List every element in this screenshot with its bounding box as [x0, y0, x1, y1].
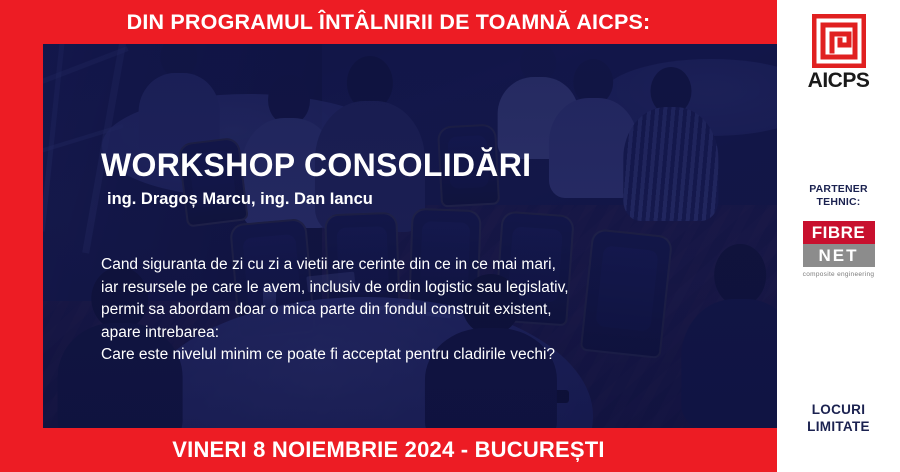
partner-label: PARTENER TEHNIC:: [809, 183, 868, 209]
partner-label-line1: PARTENER: [809, 183, 868, 196]
abstract-line: Cand siguranta de zi cu zi a vietii are …: [101, 254, 671, 277]
abstract-text: Cand siguranta de zi cu zi a vietii are …: [101, 254, 671, 367]
fibrenet-word-net: NET: [819, 247, 859, 264]
seats-line2: LIMITATE: [777, 418, 900, 435]
speakers-line: ing. Dragoș Marcu, ing. Dan Iancu: [107, 190, 373, 209]
fibrenet-word-fibre: FIBRE: [812, 224, 866, 241]
workshop-title: WORKSHOP CONSOLIDĂRI: [101, 147, 531, 184]
fibrenet-tagline: composite engineering: [803, 271, 875, 278]
aicps-logo: AICPS: [808, 14, 870, 91]
sidebar: AICPS PARTENER TEHNIC: FIBRE NET composi…: [777, 0, 900, 472]
aicps-spiral-icon: [812, 14, 866, 68]
fibrenet-logo: FIBRE NET composite engineering: [803, 221, 875, 278]
fibrenet-red-box: FIBRE: [803, 221, 875, 244]
abstract-line: iar resursele pe care le avem, inclusiv …: [101, 277, 671, 300]
bottom-banner-text: VINERI 8 NOIEMBRIE 2024 - BUCUREȘTI: [172, 437, 604, 463]
fibrenet-gray-box: NET: [803, 244, 875, 267]
technical-partner: PARTENER TEHNIC: FIBRE NET composite eng…: [803, 183, 875, 278]
abstract-line: permit sa abordam doar o mica parte din …: [101, 299, 671, 322]
abstract-line: Care este nivelul minim ce poate fi acce…: [101, 344, 671, 367]
photo-text-layer: WORKSHOP CONSOLIDĂRI ing. Dragoș Marcu, …: [0, 0, 777, 472]
seats-line1: LOCURI: [777, 401, 900, 418]
red-background-panel: DIN PROGRAMUL ÎNTÂLNIRII DE TOAMNĂ AICPS…: [0, 0, 777, 472]
abstract-line: apare intrebarea:: [101, 322, 671, 345]
partner-label-line2: TEHNIC:: [809, 196, 868, 209]
bottom-banner: VINERI 8 NOIEMBRIE 2024 - BUCUREȘTI: [0, 428, 777, 472]
event-poster: DIN PROGRAMUL ÎNTÂLNIRII DE TOAMNĂ AICPS…: [0, 0, 900, 472]
limited-seats-notice: LOCURI LIMITATE: [777, 401, 900, 435]
aicps-wordmark: AICPS: [808, 70, 870, 91]
